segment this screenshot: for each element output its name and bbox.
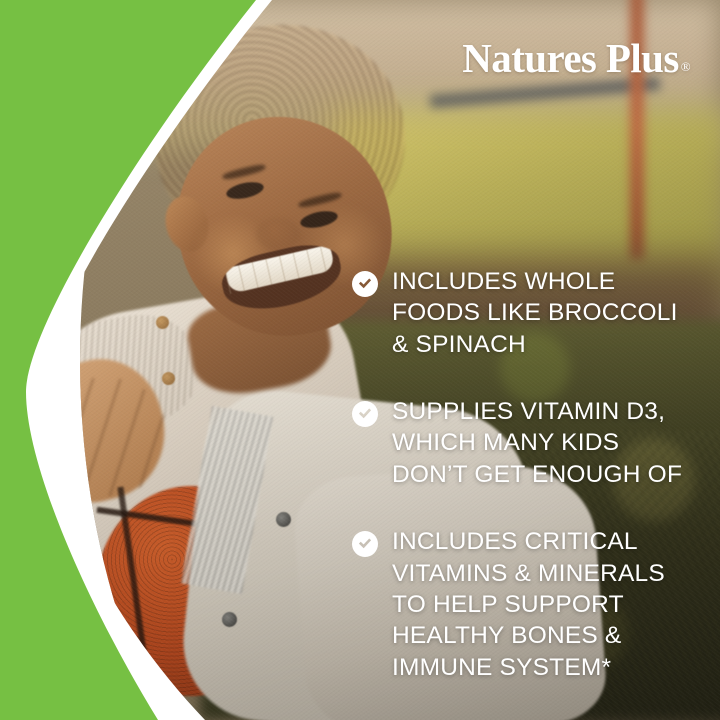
registered-trademark-symbol: ® xyxy=(681,60,690,73)
check-circle-icon xyxy=(352,271,378,297)
benefits-list: INCLUDES WHOLE FOODS LIKE BROCCOLI & SPI… xyxy=(352,266,698,683)
photo-overalls-snap-1 xyxy=(276,512,291,527)
check-circle-icon xyxy=(352,401,378,427)
benefit-item: INCLUDES CRITICAL VITAMINS & MINERALS TO… xyxy=(352,526,698,683)
benefit-text: SUPPLIES VITAMIN D3, WHICH MANY KIDS DON… xyxy=(392,396,682,490)
photo-child-nose xyxy=(256,218,300,250)
benefit-text: INCLUDES CRITICAL VITAMINS & MINERALS TO… xyxy=(392,526,665,683)
check-circle-icon xyxy=(352,531,378,557)
benefit-text: INCLUDES WHOLE FOODS LIKE BROCCOLI & SPI… xyxy=(392,266,678,360)
photo-shirt-button-2 xyxy=(162,372,175,385)
benefit-item: SUPPLIES VITAMIN D3, WHICH MANY KIDS DON… xyxy=(352,396,698,490)
photo-shirt-button-1 xyxy=(156,316,169,329)
brand-logo-text: Natures Plus xyxy=(462,38,678,79)
benefit-item: INCLUDES WHOLE FOODS LIKE BROCCOLI & SPI… xyxy=(352,266,698,360)
brand-logo[interactable]: Natures Plus® xyxy=(462,38,690,79)
photo-hand-fingers xyxy=(40,378,166,496)
photo-overalls-snap-2 xyxy=(222,612,237,627)
promo-banner: Natures Plus® INCLUDES WHOLE FOODS LIKE … xyxy=(0,0,720,720)
